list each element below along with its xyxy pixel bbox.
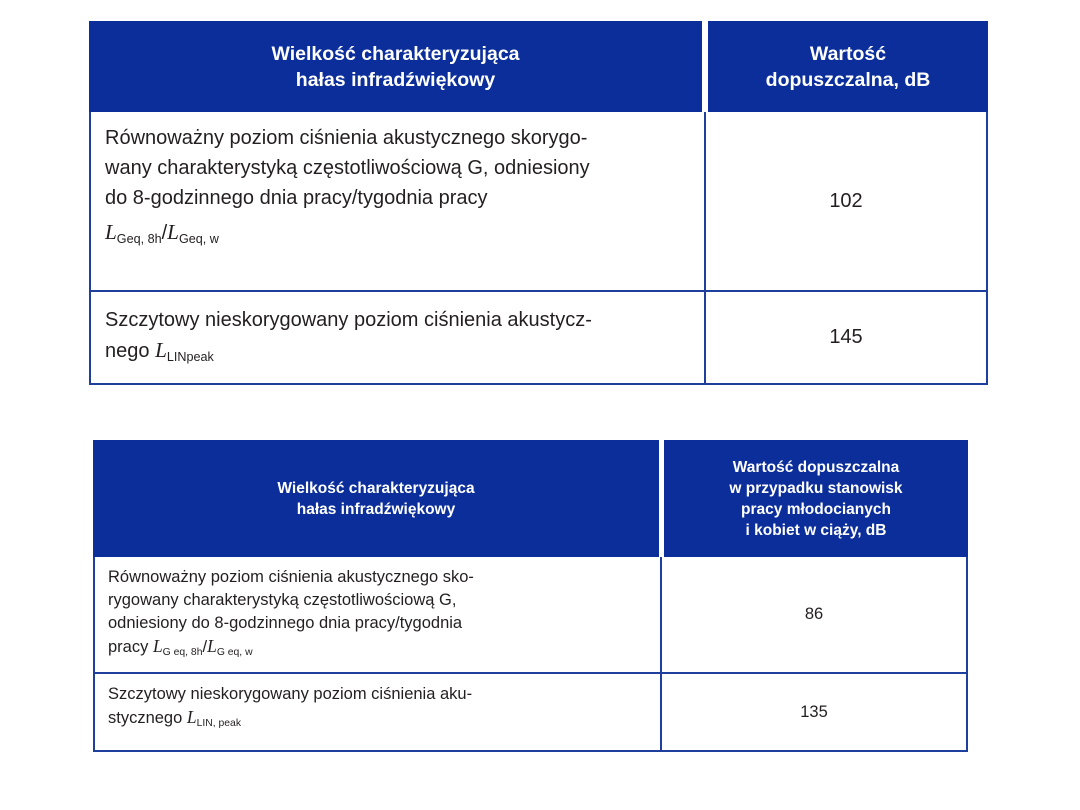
column-header-quantity-line2: hałas infradźwiękowy — [296, 69, 495, 91]
description-line-1: Równoważny poziom ciśnienia akustycznego… — [108, 568, 474, 586]
symbol-L-second: L — [167, 220, 179, 244]
symbol-L-second: L — [207, 636, 217, 656]
column-header-limit-value-line3: pracy młodocianych — [741, 501, 891, 518]
column-header-quantity: Wielkość charakteryzująca hałas infradźw… — [93, 440, 659, 557]
description-line-4: pracy — [108, 638, 153, 656]
table-header-row: Wielkość charakteryzująca hałas infradźw… — [93, 440, 968, 557]
description-line-2: rygowany charakterystyką częstotliwościo… — [108, 591, 456, 609]
cell-limit-value: 135 — [662, 674, 966, 750]
peak-level-symbol: LLINpeak — [155, 340, 214, 362]
table-body: Równoważny poziom ciśnienia akustycznego… — [93, 557, 968, 752]
description-line-1: Szczytowy nieskorygowany poziom ciśnieni… — [108, 685, 472, 703]
column-header-quantity-line1: Wielkość charakteryzująca — [277, 480, 474, 497]
symbol-L-first: L — [105, 220, 117, 244]
description-line-1: Równoważny poziom ciśnienia akustycznego… — [105, 127, 587, 149]
table-row: Równoważny poziom ciśnienia akustycznego… — [95, 557, 966, 672]
column-header-limit-value-line1: Wartość dopuszczalna — [733, 459, 900, 476]
infrasound-limits-table-general: Wielkość charakteryzująca hałas infradźw… — [89, 21, 988, 385]
symbol-L-first: L — [153, 636, 163, 656]
description-line-3: do 8-godzinnego dnia pracy/tygodnia prac… — [105, 187, 487, 209]
description-line-2: wany charakterystyką częstotliwościową G… — [105, 157, 590, 179]
cell-description: Szczytowy nieskorygowany poziom ciśnieni… — [91, 292, 706, 383]
column-header-limit-value: Wartość dopuszczalna, dB — [708, 21, 988, 112]
symbol-subscript-first: Geq, 8h — [117, 232, 162, 246]
symbol-L-first: L — [187, 707, 197, 727]
acoustic-level-symbol: LG eq, 8h/LG eq, w — [153, 638, 253, 656]
column-header-quantity-line1: Wielkość charakteryzująca — [271, 43, 519, 65]
description-line-2: nego — [105, 340, 155, 362]
column-header-quantity-line2: hałas infradźwiękowy — [297, 501, 456, 518]
acoustic-level-symbol: LGeq, 8h/LGeq, w — [105, 217, 690, 248]
cell-limit-value: 102 — [706, 112, 986, 290]
symbol-subscript-first: G eq, 8h — [163, 647, 203, 658]
column-header-limit-value: Wartość dopuszczalna w przypadku stanowi… — [664, 440, 968, 557]
symbol-subscript-second: Geq, w — [179, 232, 219, 246]
symbol-subscript-second: G eq, w — [217, 647, 253, 658]
peak-level-symbol: LLIN, peak — [187, 709, 241, 727]
description-line-3: odniesiony do 8-godzinnego dnia pracy/ty… — [108, 614, 462, 632]
table-row: Szczytowy nieskorygowany poziom ciśnieni… — [95, 672, 966, 750]
column-header-limit-value-line2: w przypadku stanowisk — [729, 480, 902, 497]
column-header-limit-value-line1: Wartość — [810, 43, 886, 65]
description-line-2: stycznego — [108, 709, 187, 727]
cell-limit-value: 86 — [662, 557, 966, 672]
column-header-limit-value-line4: i kobiet w ciąży, dB — [746, 522, 887, 539]
symbol-subscript-first: LIN, peak — [197, 718, 241, 729]
table-header-row: Wielkość charakteryzująca hałas infradźw… — [89, 21, 988, 112]
cell-description: Równoważny poziom ciśnienia akustycznego… — [95, 557, 662, 672]
cell-description: Szczytowy nieskorygowany poziom ciśnieni… — [95, 674, 662, 750]
column-header-limit-value-line2: dopuszczalna, dB — [766, 69, 931, 91]
cell-limit-value: 145 — [706, 292, 986, 383]
table-row: Równoważny poziom ciśnienia akustycznego… — [91, 112, 986, 290]
table-row: Szczytowy nieskorygowany poziom ciśnieni… — [91, 290, 986, 383]
description-line-1: Szczytowy nieskorygowany poziom ciśnieni… — [105, 309, 592, 331]
infrasound-limits-table-youth-pregnant: Wielkość charakteryzująca hałas infradźw… — [93, 440, 968, 752]
column-header-quantity: Wielkość charakteryzująca hałas infradźw… — [89, 21, 702, 112]
table-body: Równoważny poziom ciśnienia akustycznego… — [89, 112, 988, 385]
symbol-L-first: L — [155, 338, 167, 362]
cell-description: Równoważny poziom ciśnienia akustycznego… — [91, 112, 706, 290]
symbol-subscript-first: LINpeak — [167, 350, 214, 364]
